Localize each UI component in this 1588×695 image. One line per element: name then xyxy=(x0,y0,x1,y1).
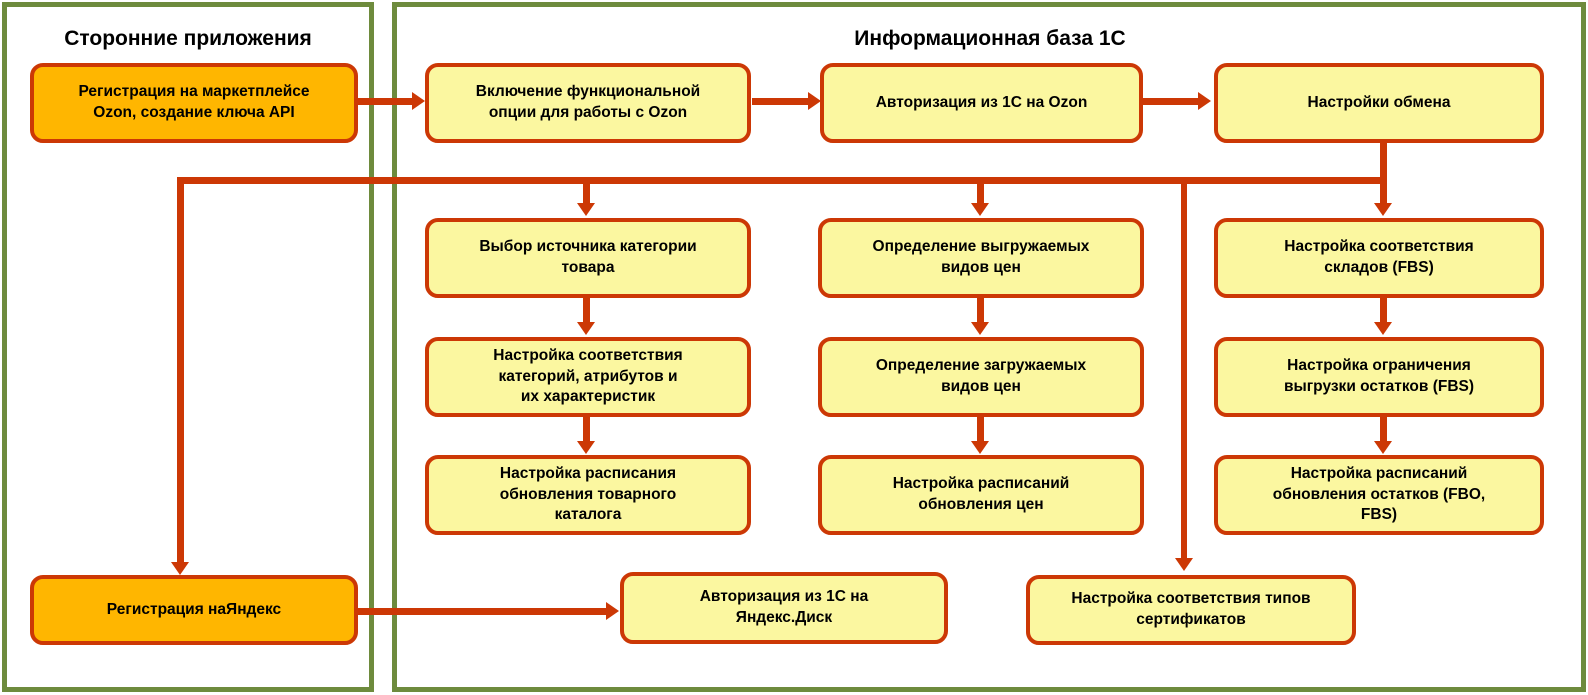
connector-enable-option-to-auth-ozon xyxy=(752,98,810,105)
node-stock-update-schedule[interactable]: Настройка расписаний обновления остатков… xyxy=(1214,455,1544,535)
arrowhead-category-source-top xyxy=(577,203,595,216)
connector-export-prices-to-import-prices xyxy=(977,298,984,324)
arrowhead-import-prices-top xyxy=(971,322,989,335)
arrowhead-cert-types-top xyxy=(1175,558,1193,571)
node-registration-ozon[interactable]: Регистрация на маркетплейсе Ozon, создан… xyxy=(30,63,358,143)
node-stock-export-limit-fbs[interactable]: Настройка ограничения выгрузки остатков … xyxy=(1214,337,1544,417)
connector-stock-limit-to-stock-schedule xyxy=(1380,417,1387,443)
diagram-canvas: Сторонние приложения Информационная база… xyxy=(0,0,1588,695)
connector-reg-yandex-to-auth-yandex-disk xyxy=(358,608,608,615)
node-price-update-schedule[interactable]: Настройка расписаний обновления цен xyxy=(818,455,1144,535)
arrowhead-auth-yandex-disk-left xyxy=(606,602,619,620)
node-import-price-types[interactable]: Определение загружаемых видов цен xyxy=(818,337,1144,417)
node-registration-yandex[interactable]: Регистрация на Яндекс xyxy=(30,575,358,645)
connector-auth-ozon-to-exchange-settings xyxy=(1142,98,1200,105)
arrowhead-catalog-schedule-top xyxy=(577,441,595,454)
panel-title-third-party-apps: Сторонние приложения xyxy=(22,27,354,51)
node-product-category-source[interactable]: Выбор источника категории товара xyxy=(425,218,751,298)
connector-bus-to-warehouse-match xyxy=(1380,177,1387,205)
arrowhead-stock-schedule-top xyxy=(1374,441,1392,454)
node-certificate-type-mapping[interactable]: Настройка соответствия типов сертификато… xyxy=(1026,575,1356,645)
connector-category-match-to-catalog-schedule xyxy=(583,417,590,443)
connector-bus-to-category-source xyxy=(583,177,590,205)
node-catalog-update-schedule[interactable]: Настройка расписания обновления товарног… xyxy=(425,455,751,535)
arrowhead-exchange-settings-left xyxy=(1198,92,1211,110)
node-warehouse-mapping-fbs[interactable]: Настройка соответствия складов (FBS) xyxy=(1214,218,1544,298)
node-auth-from-1c-to-yandex-disk[interactable]: Авторизация из 1С на Яндекс.Диск xyxy=(620,572,948,644)
arrowhead-enable-option-left xyxy=(412,92,425,110)
arrowhead-reg-yandex-top xyxy=(171,562,189,575)
connector-category-source-to-category-match xyxy=(583,298,590,324)
node-category-attribute-mapping[interactable]: Настройка соответствия категорий, атрибу… xyxy=(425,337,751,417)
node-auth-from-1c-to-ozon[interactable]: Авторизация из 1С на Ozon xyxy=(820,63,1143,143)
arrowhead-category-match-top xyxy=(577,322,595,335)
arrowhead-stock-limit-top xyxy=(1374,322,1392,335)
arrowhead-price-schedule-top xyxy=(971,441,989,454)
panel-title-1c-database: Информационная база 1С xyxy=(680,27,1300,51)
connector-bus-to-cert-types xyxy=(1181,177,1187,561)
connector-bus-to-reg-yandex xyxy=(177,177,184,565)
node-enable-functional-option[interactable]: Включение функциональной опции для работ… xyxy=(425,63,751,143)
arrowhead-export-prices-top xyxy=(971,203,989,216)
node-export-price-types[interactable]: Определение выгружаемых видов цен xyxy=(818,218,1144,298)
node-exchange-settings[interactable]: Настройки обмена xyxy=(1214,63,1544,143)
connector-bus-to-export-prices xyxy=(977,177,984,205)
connector-distribution-bus xyxy=(177,177,1387,184)
arrowhead-warehouse-match-top xyxy=(1374,203,1392,216)
connector-import-prices-to-price-schedule xyxy=(977,417,984,443)
connector-reg-ozon-to-enable-option xyxy=(358,98,414,105)
connector-warehouse-match-to-stock-limit xyxy=(1380,298,1387,324)
